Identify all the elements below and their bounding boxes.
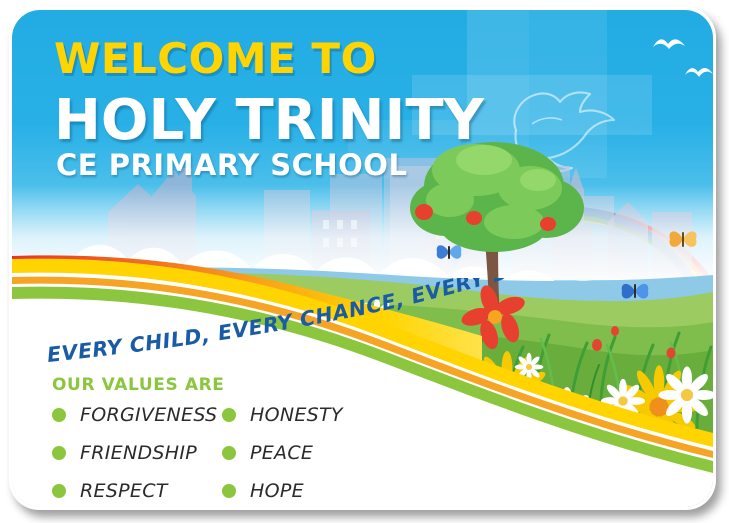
values-column-right: HONESTY PEACE HOPE bbox=[222, 402, 392, 504]
bullet-icon bbox=[52, 446, 66, 460]
seagull-icon bbox=[684, 65, 713, 80]
values-column-left: FORGIVENESS FRIENDSHIP RESPECT bbox=[52, 402, 222, 504]
tagline-curved: EVERY CHILD, EVERY CHANCE, EVERY DAY bbox=[12, 278, 713, 418]
value-label: HONESTY bbox=[250, 404, 343, 426]
bullet-icon bbox=[222, 484, 236, 498]
value-label: HOPE bbox=[250, 480, 304, 502]
bullet-icon bbox=[52, 484, 66, 498]
value-item: RESPECT bbox=[52, 478, 222, 504]
value-label: RESPECT bbox=[80, 480, 168, 502]
banner-card: WELCOME TO HOLY TRINITY CE PRIMARY SCHOO… bbox=[9, 7, 716, 510]
value-label: FRIENDSHIP bbox=[80, 442, 197, 464]
tagline-text: EVERY CHILD, EVERY CHANCE, EVERY DAY bbox=[12, 278, 512, 367]
school-welcome-banner: WELCOME TO HOLY TRINITY CE PRIMARY SCHOO… bbox=[0, 0, 729, 523]
bullet-icon bbox=[222, 408, 236, 422]
welcome-headline: WELCOME TO bbox=[54, 34, 377, 83]
value-item: HONESTY bbox=[222, 402, 392, 428]
value-label: FORGIVENESS bbox=[80, 404, 217, 426]
svg-text:EVERY CHILD, EVERY CHANCE, EVE: EVERY CHILD, EVERY CHANCE, EVERY DAY bbox=[12, 278, 512, 367]
values-list: FORGIVENESS FRIENDSHIP RESPECT HONESTY bbox=[52, 402, 392, 504]
school-type-subtitle: CE PRIMARY SCHOOL bbox=[56, 148, 407, 182]
banner-card-inner: WELCOME TO HOLY TRINITY CE PRIMARY SCHOO… bbox=[12, 10, 713, 507]
value-item: HOPE bbox=[222, 478, 392, 504]
values-heading: OUR VALUES ARE bbox=[52, 375, 225, 395]
seagull-icon bbox=[652, 36, 686, 52]
bullet-icon bbox=[222, 446, 236, 460]
school-name-title: HOLY TRINITY bbox=[54, 88, 484, 153]
bullet-icon bbox=[52, 408, 66, 422]
value-label: PEACE bbox=[250, 442, 313, 464]
value-item: PEACE bbox=[222, 440, 392, 466]
value-item: FORGIVENESS bbox=[52, 402, 222, 428]
value-item: FRIENDSHIP bbox=[52, 440, 222, 466]
